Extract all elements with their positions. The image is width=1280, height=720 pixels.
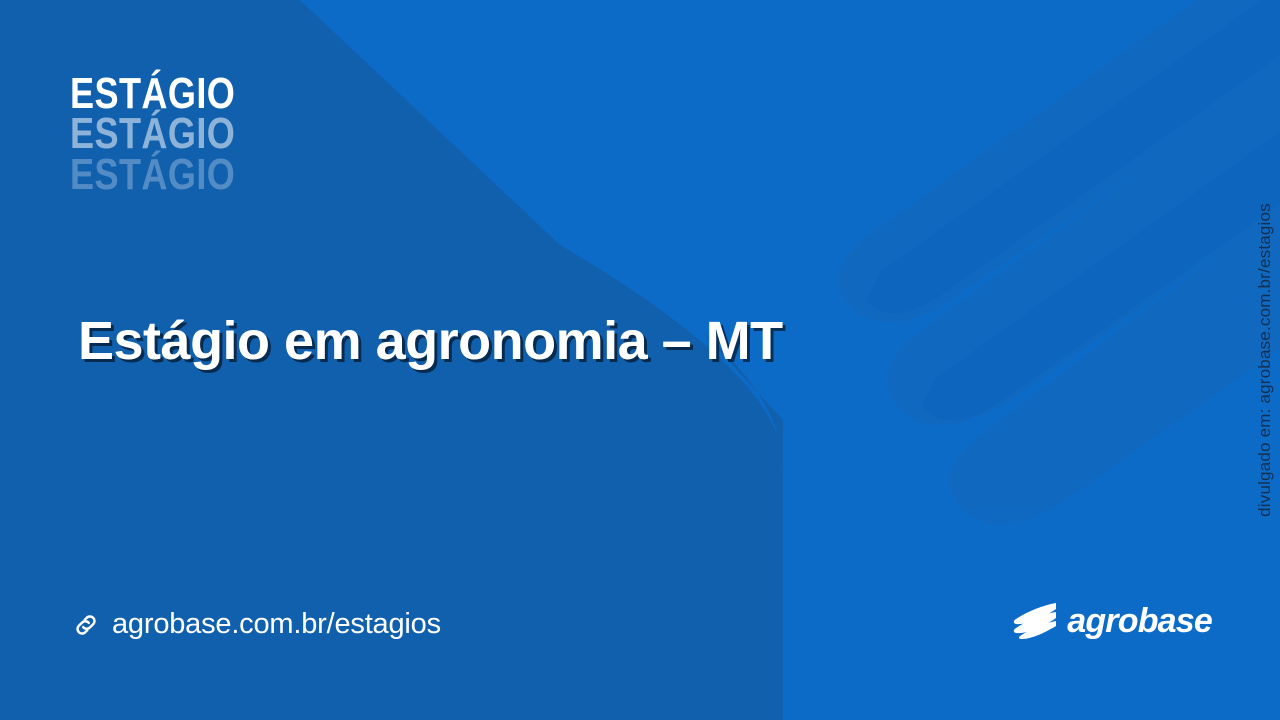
agrobase-layers-logo-icon — [1012, 602, 1058, 640]
link-chain-icon — [72, 611, 100, 639]
site-url-row[interactable]: agrobase.com.br/estagios — [72, 608, 441, 641]
site-url-text: agrobase.com.br/estagios — [112, 608, 441, 641]
estagio-watermark-stack: ESTÁGIO ESTÁGIO ESTÁGIO — [70, 74, 272, 195]
agrobase-logo[interactable]: agrobase — [1012, 602, 1212, 640]
agrobase-logo-wordmark: agrobase — [1067, 604, 1212, 638]
publication-credit: divulgado em: agrobase.com.br/estagios — [1248, 0, 1280, 720]
page-title: Estágio em agronomia – MT — [78, 310, 783, 372]
publication-credit-text: divulgado em: agrobase.com.br/estagios — [1255, 203, 1275, 517]
estagio-watermark-line-1: ESTÁGIO — [70, 74, 235, 114]
slide-canvas: ESTÁGIO ESTÁGIO ESTÁGIO Estágio em agron… — [0, 0, 1280, 720]
estagio-watermark-line-3: ESTÁGIO — [70, 155, 235, 195]
estagio-watermark-line-2: ESTÁGIO — [70, 114, 235, 154]
